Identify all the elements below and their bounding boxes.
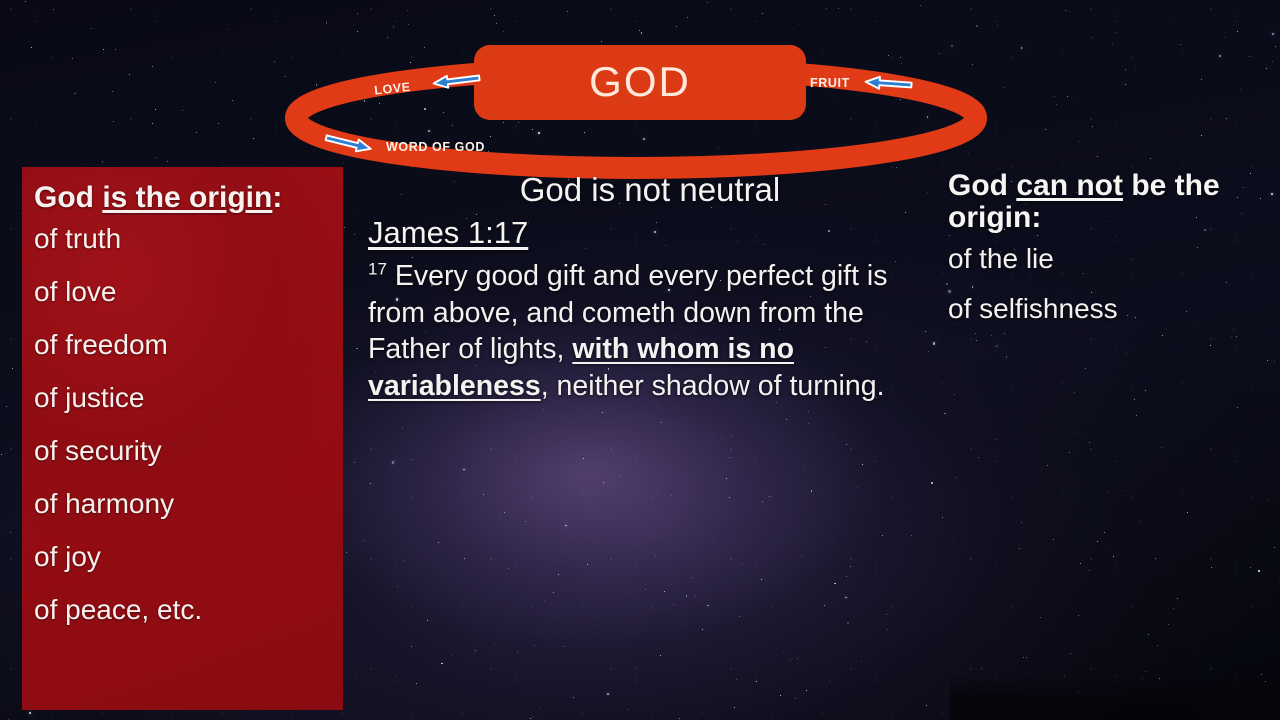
right-title-underlined: can not xyxy=(1016,169,1123,202)
scripture-reference: James 1:17 xyxy=(368,216,940,250)
verse-part-2: , neither shadow of turning. xyxy=(541,370,885,402)
left-title-suffix: : xyxy=(272,181,282,214)
list-item: of selfishness xyxy=(948,295,1266,323)
list-item: of harmony xyxy=(34,490,343,518)
love-label-group: LOVE xyxy=(374,80,412,98)
right-panel-title: God can not be the origin: xyxy=(948,170,1266,233)
presentation-slide: GOD LOVE FRUIT WORD OF GOD God is the or… xyxy=(0,0,1280,720)
headline: God is not neutral xyxy=(360,172,940,208)
list-item: of freedom xyxy=(34,331,343,359)
list-item: of peace, etc. xyxy=(34,596,343,624)
center-scripture-block: God is not neutral James 1:17 17 Every g… xyxy=(360,172,940,404)
love-label: LOVE xyxy=(374,80,412,98)
left-title-underlined: is the origin xyxy=(102,181,272,214)
scripture-verse: 17 Every good gift and every perfect gif… xyxy=(368,258,940,404)
left-title-prefix: God xyxy=(34,181,102,214)
list-item: of truth xyxy=(34,225,343,253)
right-title-prefix: God xyxy=(948,169,1016,202)
scripture-reference-text: James 1:17 xyxy=(368,215,528,250)
list-item: of the lie xyxy=(948,245,1266,273)
list-item: of justice xyxy=(34,384,343,412)
verse-number: 17 xyxy=(368,260,387,279)
list-item: of joy xyxy=(34,543,343,571)
word-of-god-label: WORD OF GOD xyxy=(386,140,485,154)
right-origin-panel: God can not be the origin: of the lie of… xyxy=(948,170,1266,345)
horizon-silhouette xyxy=(950,674,1280,720)
god-box-label: GOD xyxy=(589,58,691,105)
god-cycle-diagram: GOD LOVE FRUIT WORD OF GOD xyxy=(288,30,994,170)
fruit-label: FRUIT xyxy=(810,76,850,90)
left-panel-title: God is the origin: xyxy=(34,181,343,215)
list-item: of love xyxy=(34,278,343,306)
left-origin-panel: God is the origin: of truth of love of f… xyxy=(22,167,343,710)
list-item: of security xyxy=(34,437,343,465)
